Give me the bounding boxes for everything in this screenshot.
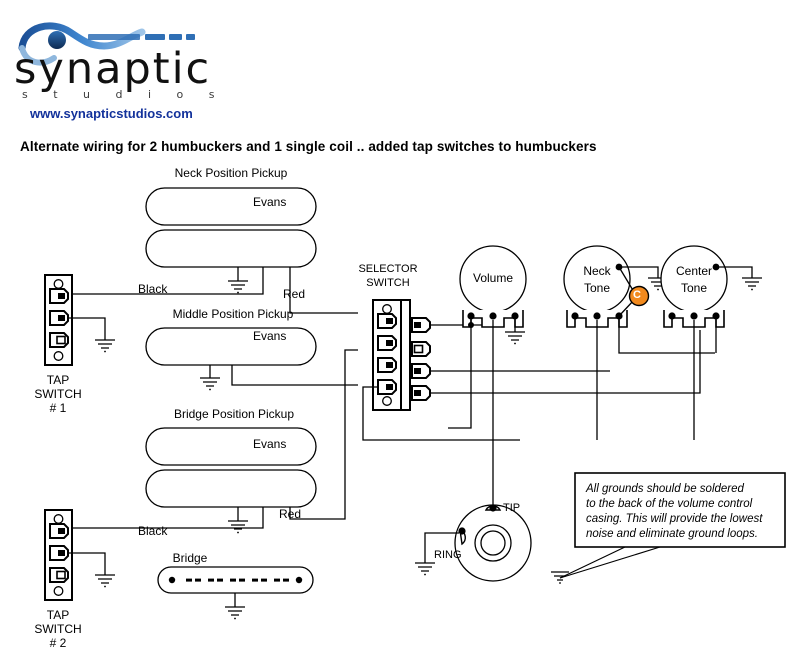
selector-switch-line1: SELECTOR — [358, 263, 417, 275]
pickup-middle-label: Middle Position Pickup — [173, 307, 294, 321]
pot-volume-label: Volume — [473, 271, 513, 285]
tap-switch-2-line3: # 2 — [50, 636, 67, 650]
wire-label-bridge-black: Black — [138, 524, 167, 538]
output-jack — [455, 504, 531, 581]
note-line-4: noise and eliminate ground loops. — [586, 527, 776, 542]
tap-switch-1[interactable] — [45, 275, 72, 365]
bridge-component — [158, 567, 313, 619]
bridge-component-label: Bridge — [173, 551, 208, 565]
capacitor-label: C — [633, 289, 641, 301]
pot-neck-tone-line1: Neck — [583, 264, 610, 278]
pickup-bridge-label: Bridge Position Pickup — [174, 407, 294, 421]
wiring-diagram-page: synaptic s t u d i o s www.synapticstudi… — [0, 0, 800, 655]
pickup-neck — [146, 188, 316, 267]
note-line-3: casing. This will provide the lowest — [586, 512, 776, 527]
note-line-2: to the back of the volume control — [586, 497, 776, 512]
pickup-bridge — [146, 428, 316, 507]
jack-tip-label: TIP — [503, 502, 520, 514]
tap-switch-2-line2: SWITCH — [34, 622, 81, 636]
tap-switch-2-line1: TAP — [47, 608, 69, 622]
tap-switch-1-line1: TAP — [47, 373, 69, 387]
jack-ring-label: RING — [434, 549, 462, 561]
selector-switch-line2: SWITCH — [366, 277, 409, 289]
pickup-neck-label: Neck Position Pickup — [175, 166, 288, 180]
pot-center-tone-line1: Center — [676, 264, 712, 278]
tap-switch-2[interactable] — [45, 510, 72, 600]
pickup-bridge-brand: Evans — [253, 437, 286, 451]
wire-label-bridge-red: Red — [279, 507, 301, 521]
note-line-1: All grounds should be soldered — [586, 482, 776, 497]
pot-center-tone-line2: Tone — [681, 281, 707, 295]
selector-switch[interactable] — [373, 300, 430, 410]
pickup-neck-brand: Evans — [253, 195, 286, 209]
pot-neck-tone-line2: Tone — [584, 281, 610, 295]
pickup-middle — [146, 328, 316, 365]
pot-volume[interactable] — [460, 246, 526, 327]
diagram-canvas — [0, 0, 800, 655]
tap-switch-1-line3: # 1 — [50, 401, 67, 415]
pickup-middle-brand: Evans — [253, 329, 286, 343]
wire-label-neck-black: Black — [138, 282, 167, 296]
wire-label-neck-red: Red — [283, 287, 305, 301]
tap-switch-1-line2: SWITCH — [34, 387, 81, 401]
